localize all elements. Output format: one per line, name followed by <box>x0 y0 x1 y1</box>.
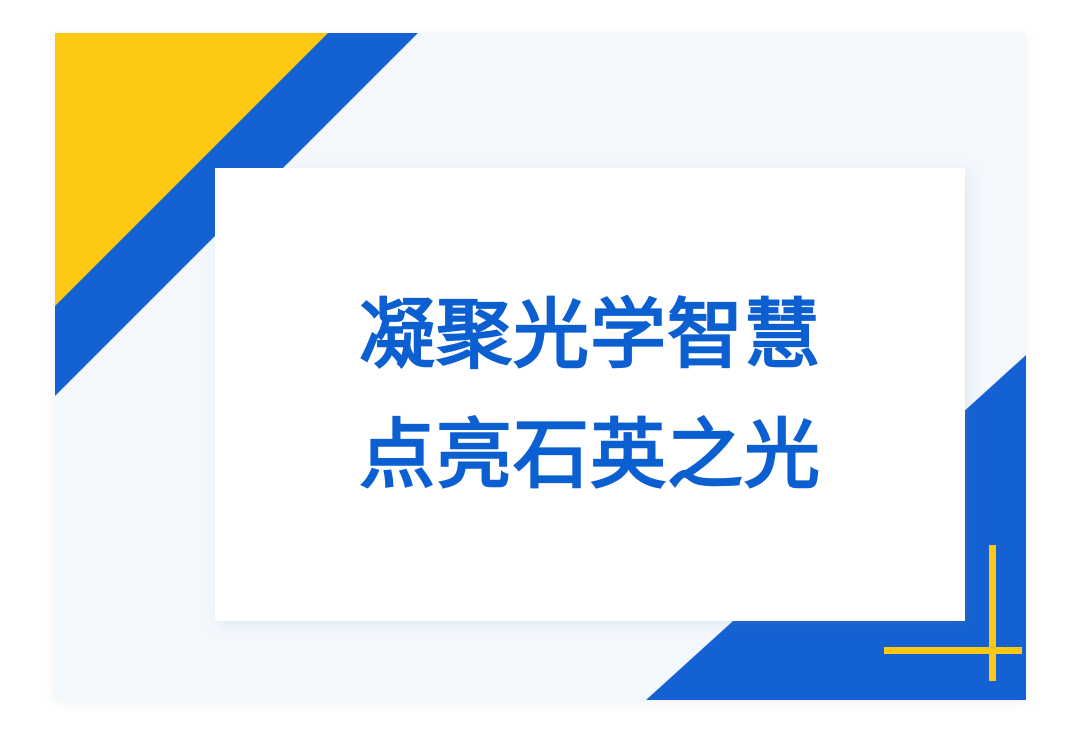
headline-block: 凝聚光学智慧 点亮石英之光 <box>359 297 821 493</box>
slide-stage: 凝聚光学智慧 点亮石英之光 <box>0 0 1080 734</box>
plus-mark-vertical-bar <box>989 545 996 681</box>
inner-content-card: 凝聚光学智慧 点亮石英之光 <box>215 168 965 621</box>
plus-mark-horizontal-bar <box>884 647 1022 654</box>
outer-panel: 凝聚光学智慧 点亮石英之光 <box>55 33 1026 700</box>
headline-line-1: 凝聚光学智慧 <box>359 297 821 373</box>
headline-line-2: 点亮石英之光 <box>359 417 821 493</box>
